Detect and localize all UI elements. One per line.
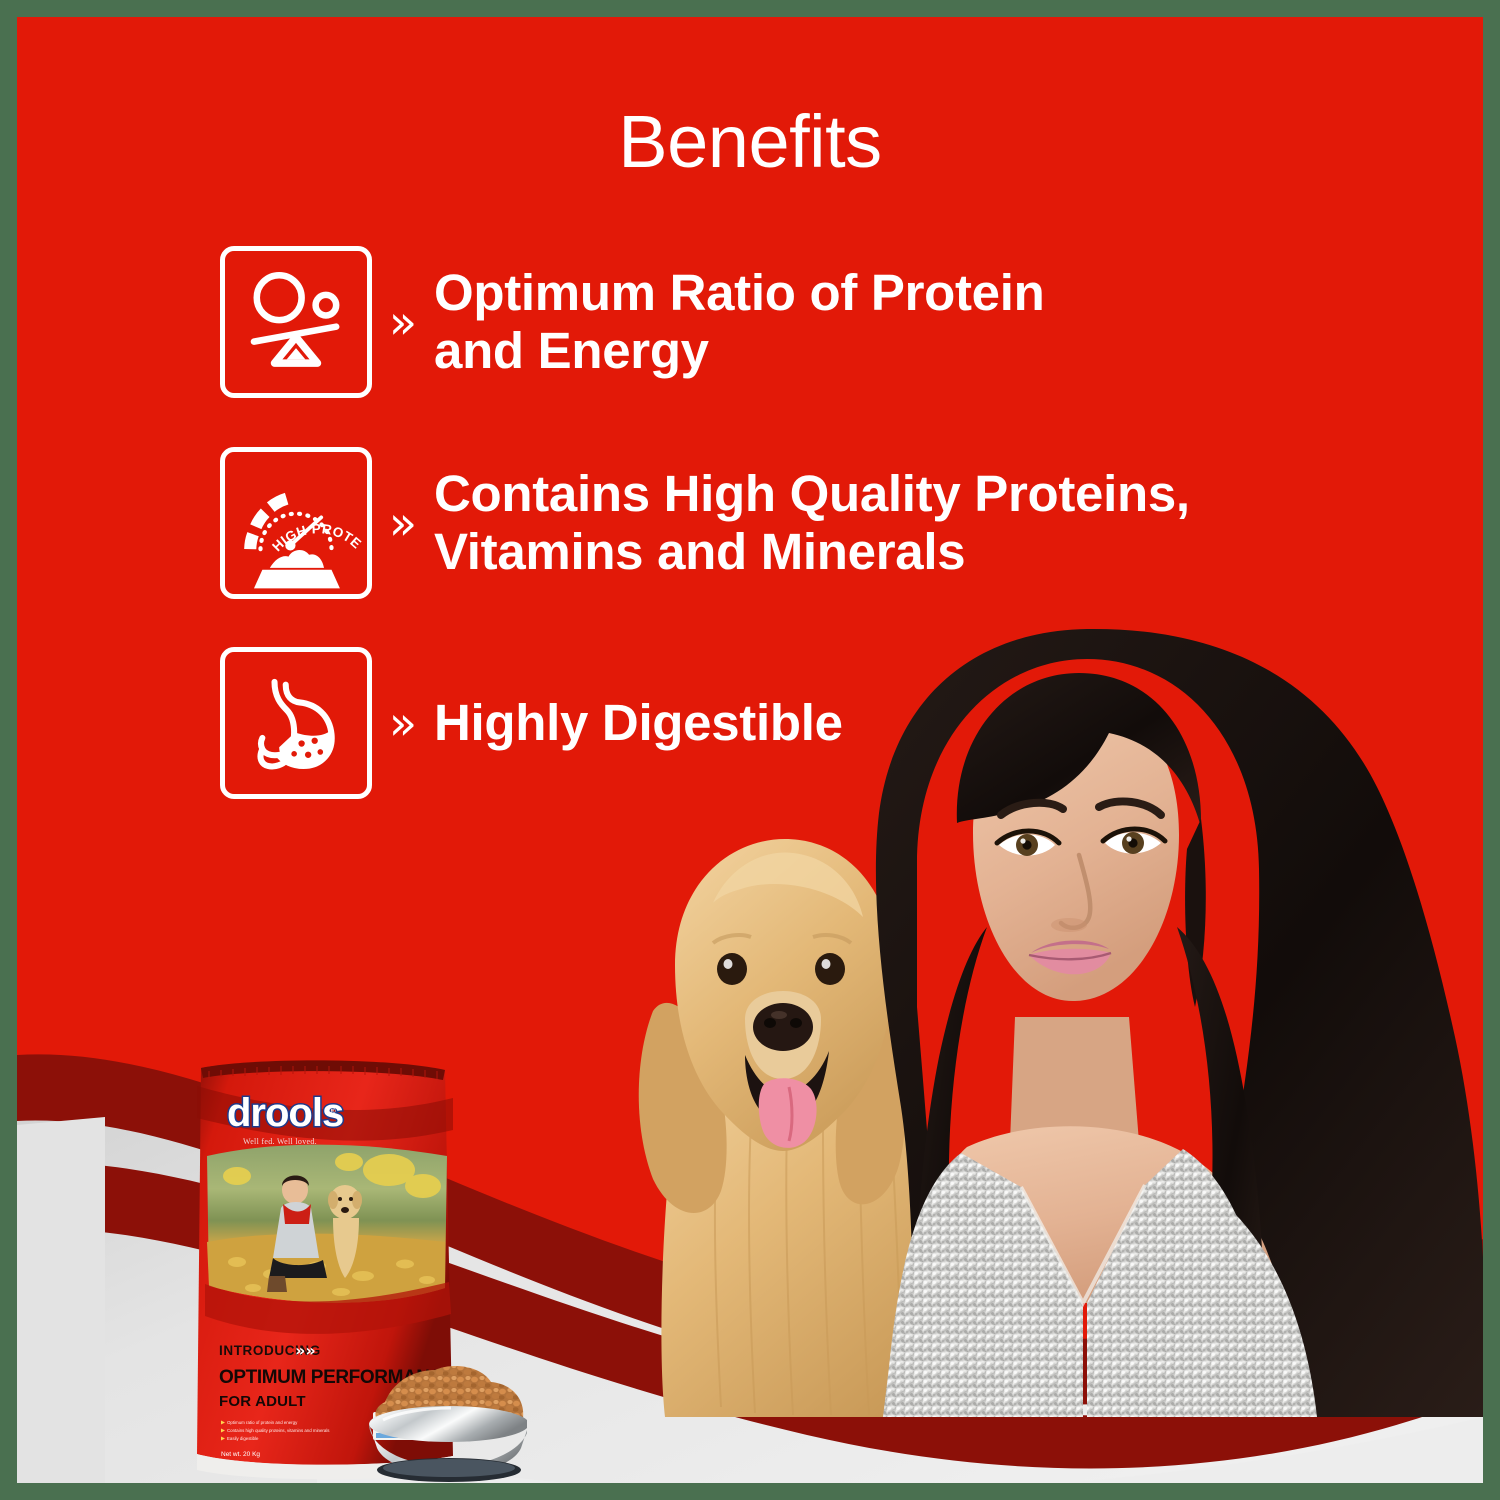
pack-variant-text: FOR ADULT <box>219 1393 306 1410</box>
woman-figure <box>876 629 1483 1417</box>
chevron-double-right-icon: » <box>372 700 434 746</box>
chevron-double-right-icon: » <box>372 500 434 546</box>
benefit-label-3: Highly Digestible <box>434 694 843 752</box>
pack-bullet-1: Optimum ratio of protein and energy <box>227 1420 298 1425</box>
benefit-item-3: » Highly Digestible <box>220 647 843 799</box>
benefit-label-1: Optimum Ratio of Protein and Energy <box>434 264 1044 380</box>
pack-bullet-2: Contains high quality proteins, vitamins… <box>227 1428 330 1433</box>
pack-introducing-chevrons: »» <box>295 1341 316 1360</box>
high-protein-gauge-icon: HIGH PROTEIN <box>220 447 372 599</box>
chevron-double-right-icon: » <box>372 299 434 345</box>
product-pack-and-bowl: drools ® Well fed. Well loved. <box>177 1052 527 1482</box>
benefit-label-2: Contains High Quality Proteins, Vitamins… <box>434 465 1190 581</box>
benefit-item-1: » Optimum Ratio of Protein and Energy <box>220 246 1044 398</box>
pack-net-weight-text: Net wt. 20 Kg <box>221 1451 260 1458</box>
pack-bullet-3: Easily digestible <box>227 1436 259 1441</box>
pack-brand-text: drools <box>227 1091 343 1135</box>
page-title: Benefits <box>17 99 1483 184</box>
poster-canvas: Benefits <box>17 17 1483 1483</box>
pack-brand-trademark: ® <box>329 1106 336 1116</box>
benefit-item-2: HIGH PROTEIN » Contains High Quality Pro… <box>220 447 1190 599</box>
stomach-digestion-icon <box>220 647 372 799</box>
pack-tagline-text: Well fed. Well loved. <box>243 1137 317 1146</box>
balance-scale-icon <box>220 246 372 398</box>
